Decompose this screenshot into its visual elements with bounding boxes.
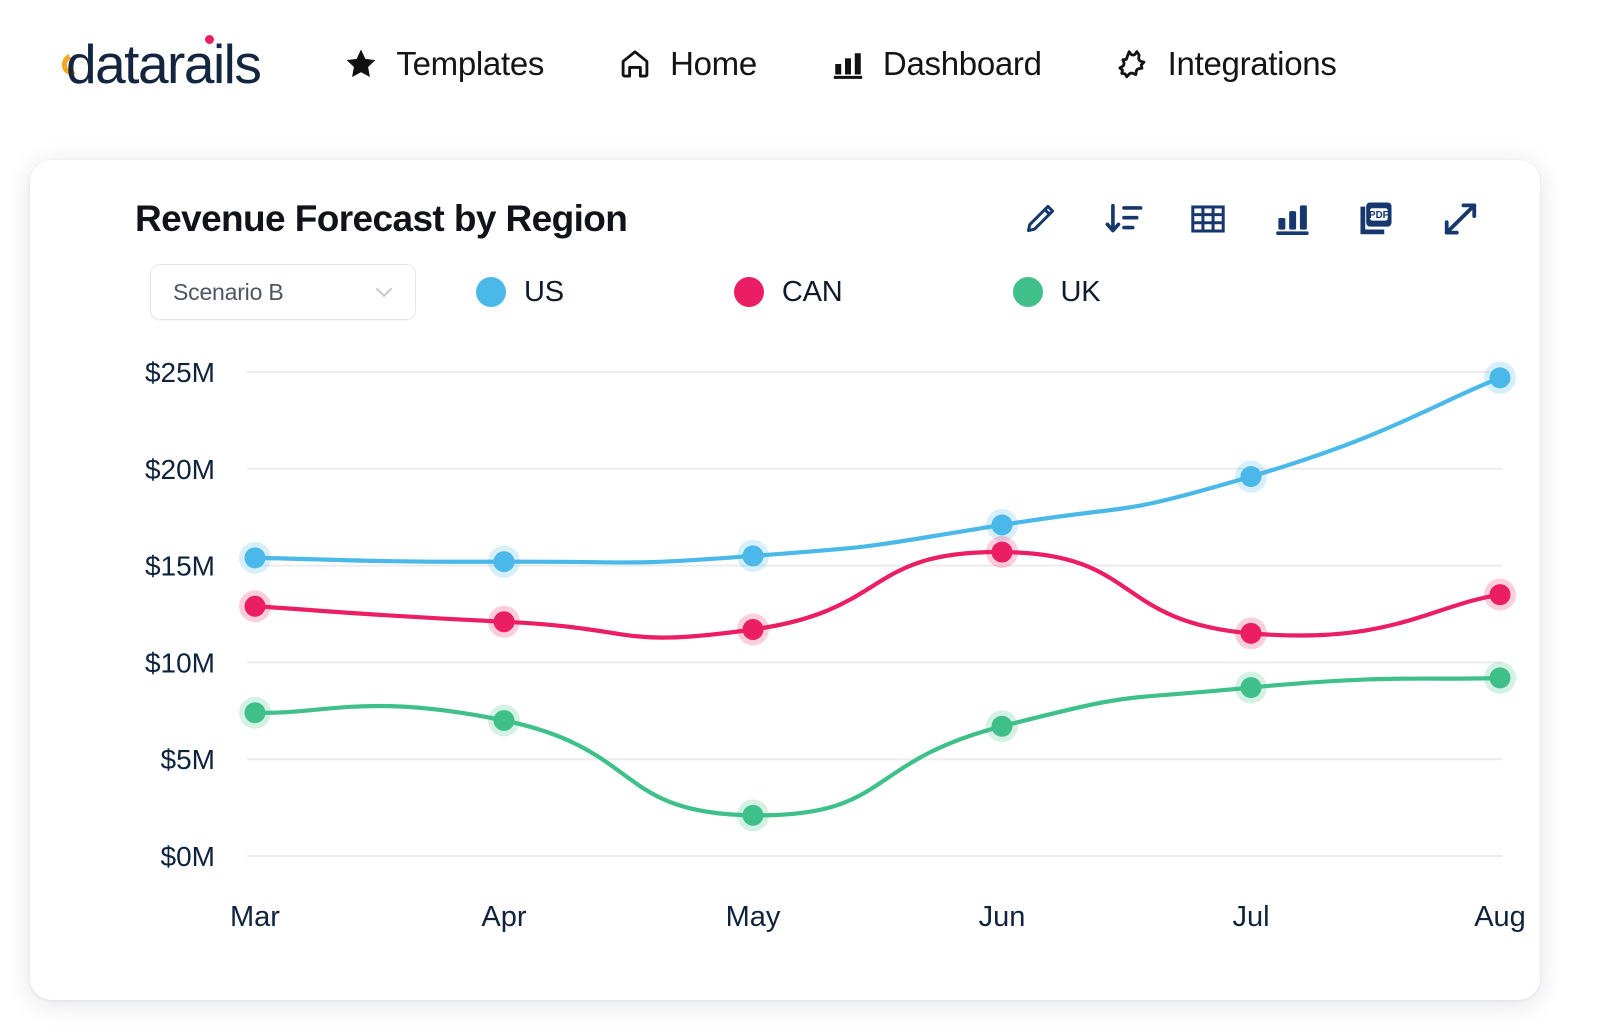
x-axis-tick-label: Jul <box>1232 901 1269 933</box>
data-point-can-Mar[interactable] <box>245 596 266 617</box>
card-header: Revenue Forecast by Region <box>30 160 1540 240</box>
data-point-us-Aug[interactable] <box>1490 367 1511 388</box>
nav-label-templates: Templates <box>396 45 544 83</box>
expand-icon[interactable] <box>1440 199 1480 239</box>
data-point-can-Aug[interactable] <box>1490 584 1511 605</box>
datarails-logo[interactable]: datarails <box>66 37 260 92</box>
sort-descending-icon[interactable] <box>1104 199 1144 239</box>
nav-label-home: Home <box>670 45 757 83</box>
nav-item-home[interactable]: Home <box>618 45 757 83</box>
x-axis-tick-label: Jun <box>979 901 1026 933</box>
page-title: Revenue Forecast by Region <box>135 198 1020 240</box>
data-point-us-Apr[interactable] <box>494 551 515 572</box>
data-point-can-Jun[interactable] <box>992 542 1013 563</box>
chart-controls: Scenario B US CAN UK <box>30 240 1540 320</box>
table-icon[interactable] <box>1188 199 1228 239</box>
nav-item-dashboard[interactable]: Dashboard <box>831 45 1042 83</box>
legend-item-uk[interactable]: UK <box>1013 276 1101 309</box>
page-body: Revenue Forecast by Region <box>0 128 1601 1036</box>
y-axis-tick-label: $25M <box>145 357 215 388</box>
x-axis-tick-label: Aug <box>1474 901 1526 933</box>
bar-chart-icon <box>831 47 865 81</box>
nav-item-templates[interactable]: Templates <box>344 45 544 83</box>
scenario-select[interactable]: Scenario B <box>150 264 416 320</box>
top-navigation-bar: datarails Templates Home Dashboard <box>0 0 1601 128</box>
data-point-us-Mar[interactable] <box>245 547 266 568</box>
legend-item-us[interactable]: US <box>476 276 564 309</box>
nav-label-integrations: Integrations <box>1168 45 1337 83</box>
line-chart-svg[interactable]: $0M$5M$10M$15M$20M$25MMarAprMayJunJulAug <box>30 354 1540 954</box>
edit-icon[interactable] <box>1020 199 1060 239</box>
chart-legend: US CAN UK <box>476 276 1100 309</box>
legend-item-can[interactable]: CAN <box>734 276 843 309</box>
y-axis-tick-label: $5M <box>161 744 215 775</box>
svg-text:PDF: PDF <box>1369 210 1389 221</box>
y-axis-tick-label: $0M <box>161 841 215 872</box>
data-point-uk-May[interactable] <box>743 805 764 826</box>
x-axis-tick-label: May <box>726 901 781 933</box>
card-toolbar: PDF <box>1020 199 1500 239</box>
line-chart: $0M$5M$10M$15M$20M$25MMarAprMayJunJulAug <box>30 354 1540 954</box>
data-point-can-Jul[interactable] <box>1241 623 1262 644</box>
legend-label-uk: UK <box>1061 276 1101 309</box>
legend-swatch-uk <box>1013 277 1043 307</box>
data-point-can-Apr[interactable] <box>494 611 515 632</box>
legend-label-can: CAN <box>782 276 843 309</box>
data-point-uk-Jun[interactable] <box>992 716 1013 737</box>
nav-label-dashboard: Dashboard <box>883 45 1042 83</box>
data-point-uk-Aug[interactable] <box>1490 667 1511 688</box>
logo-text: datarails <box>66 37 260 92</box>
y-axis-tick-label: $15M <box>145 551 215 582</box>
x-axis-tick-label: Mar <box>230 901 280 933</box>
chart-icon[interactable] <box>1272 199 1312 239</box>
series-line-uk <box>255 678 1500 815</box>
puzzle-icon <box>1116 47 1150 81</box>
scenario-select-value: Scenario B <box>173 279 371 306</box>
legend-swatch-can <box>734 277 764 307</box>
data-point-us-Jul[interactable] <box>1241 466 1262 487</box>
x-axis-tick-label: Apr <box>481 901 526 933</box>
data-point-uk-Apr[interactable] <box>494 710 515 731</box>
legend-swatch-us <box>476 277 506 307</box>
home-icon <box>618 47 652 81</box>
star-icon <box>344 47 378 81</box>
chevron-down-icon <box>371 279 397 305</box>
data-point-us-May[interactable] <box>743 545 764 566</box>
data-point-us-Jun[interactable] <box>992 514 1013 535</box>
series-line-us <box>255 378 1500 563</box>
data-point-can-May[interactable] <box>743 619 764 640</box>
logo-dot-accent <box>205 35 214 44</box>
legend-label-us: US <box>524 276 564 309</box>
revenue-forecast-card: Revenue Forecast by Region <box>30 160 1540 1000</box>
data-point-uk-Mar[interactable] <box>245 702 266 723</box>
nav-item-integrations[interactable]: Integrations <box>1116 45 1337 83</box>
y-axis-tick-label: $20M <box>145 454 215 485</box>
data-point-uk-Jul[interactable] <box>1241 677 1262 698</box>
y-axis-tick-label: $10M <box>145 647 215 678</box>
pdf-export-icon[interactable]: PDF <box>1356 199 1396 239</box>
